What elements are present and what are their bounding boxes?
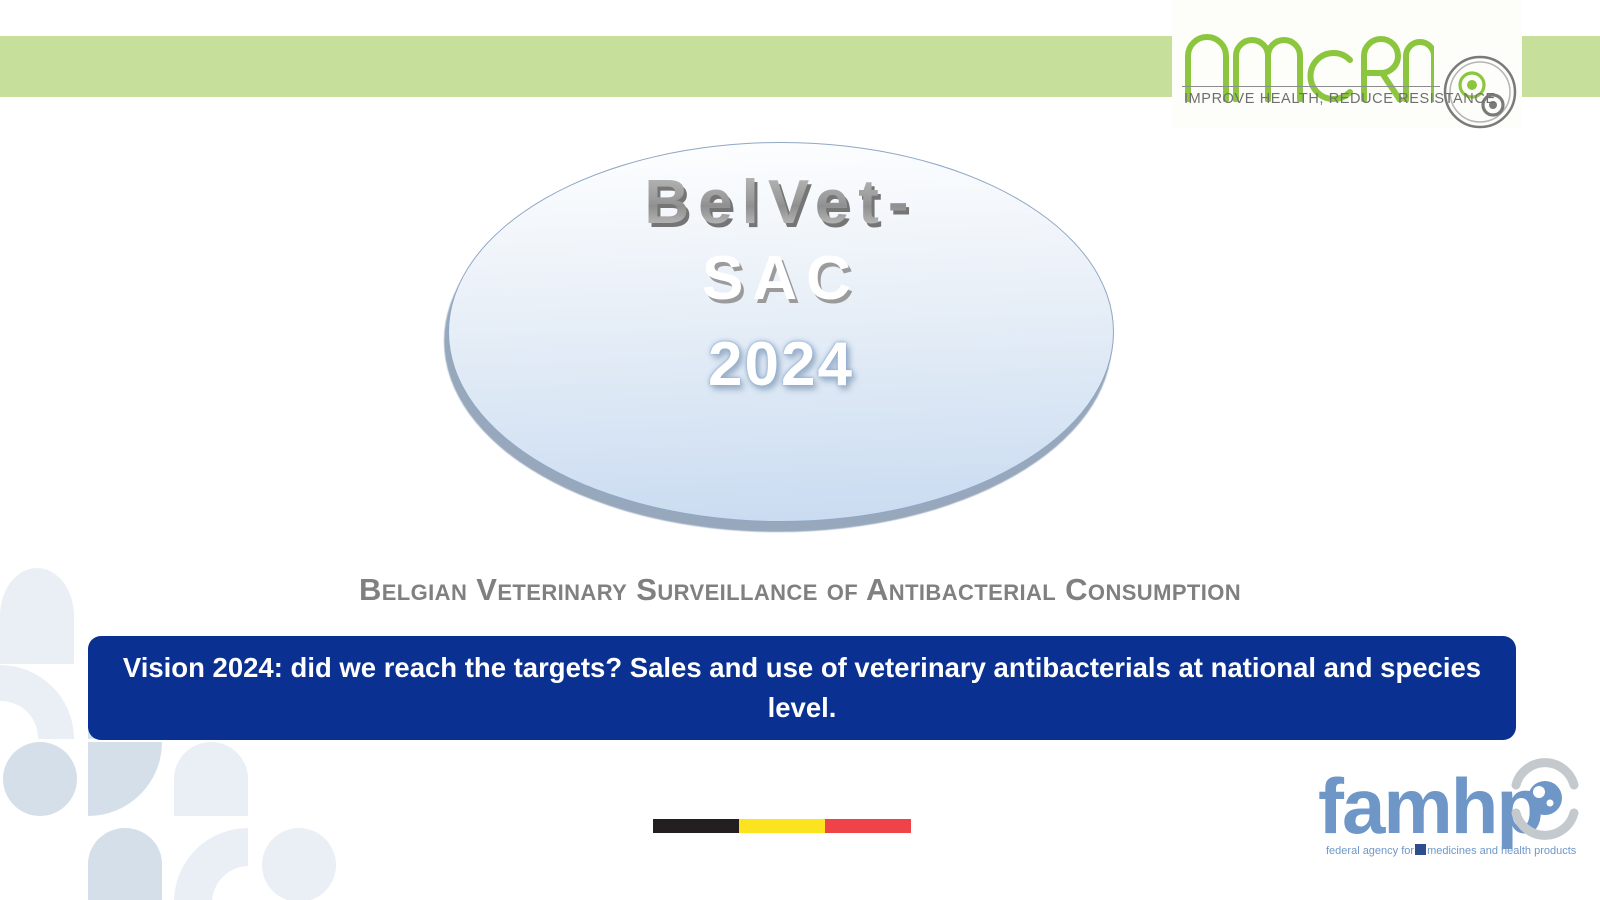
famhp-logo: famhp federal agency formedicines and he… (1318, 755, 1588, 870)
oval-line-sac: SAC (702, 240, 860, 318)
famhp-tagline-square (1415, 844, 1426, 855)
belvet-sac-oval-logo: BelVet- SAC 2024 (444, 142, 1116, 534)
top-green-band-left (0, 36, 1172, 97)
decor-quarter-1 (88, 742, 162, 816)
decor-circle-2 (262, 828, 336, 900)
title-banner-text: Vision 2024: did we reach the targets? S… (118, 648, 1486, 728)
title-banner: Vision 2024: did we reach the targets? S… (88, 636, 1516, 740)
famhp-orb-icon (1502, 755, 1588, 841)
decor-ring-1 (0, 665, 74, 739)
top-green-band-right (1522, 36, 1600, 97)
decor-circle-1 (3, 742, 77, 816)
oval-line-belvet: BelVet- (644, 172, 917, 234)
decor-arch-3 (174, 742, 248, 816)
amcra-tagline: IMPROVE HEALTH, REDUCE RESISTANCE (1184, 91, 1496, 107)
belgian-flag-bar (653, 819, 911, 833)
amcra-logo: IMPROVE HEALTH, REDUCE RESISTANCE (1172, 0, 1522, 128)
decor-ring-2 (174, 828, 248, 900)
slide-subtitle: Belgian Veterinary Surveillance of Antib… (0, 572, 1600, 608)
famhp-tagline: federal agency formedicines and health p… (1326, 844, 1576, 857)
famhp-tagline-before: federal agency for (1326, 845, 1414, 857)
famhp-tagline-after: medicines and health products (1427, 845, 1576, 857)
flag-stripe-red (825, 819, 911, 833)
amcra-divider (1182, 86, 1440, 87)
oval-text-stack: BelVet- SAC 2024 (448, 142, 1114, 522)
flag-stripe-yellow (739, 819, 825, 833)
decor-arch-2 (88, 828, 162, 900)
oval-line-year: 2024 (708, 328, 854, 402)
title-slide: IMPROVE HEALTH, REDUCE RESISTANCE BelVet… (0, 0, 1600, 900)
flag-stripe-black (653, 819, 739, 833)
